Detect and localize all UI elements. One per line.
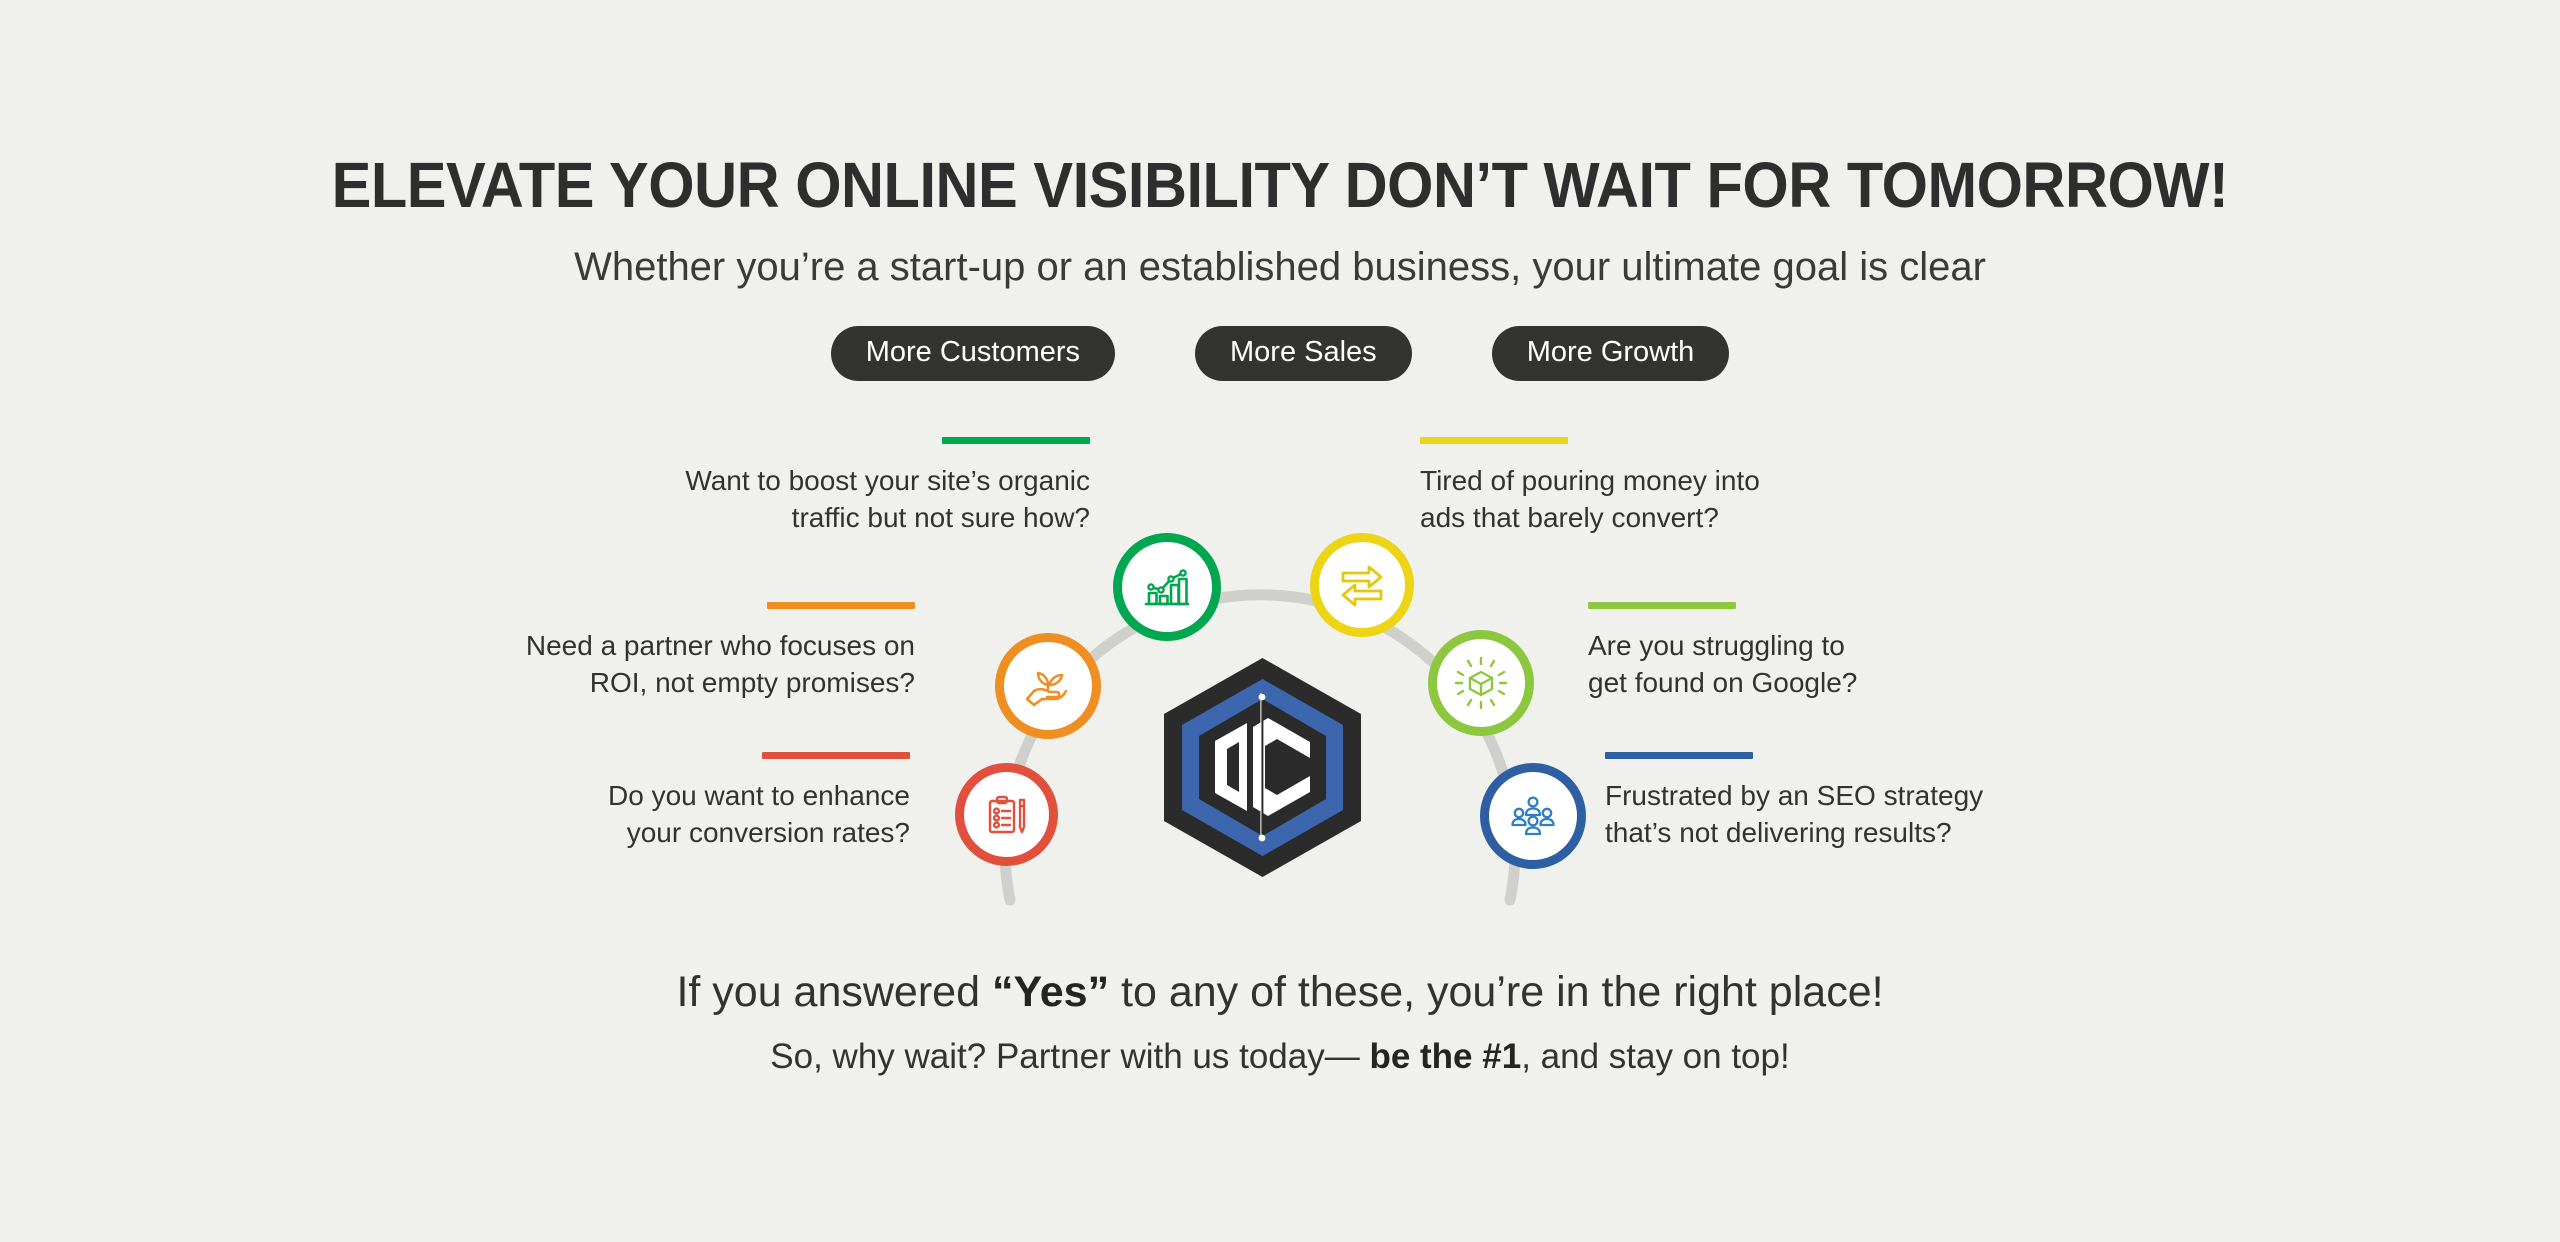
label-conversion-rates-line2: your conversion rates? [627,817,910,848]
footer-line-1: If you answered “Yes” to any of these, y… [0,968,2560,1017]
accent-bar-lime [1588,602,1736,609]
pill-more-sales[interactable]: More Sales [1195,326,1412,381]
bar-chart-growth-icon [1139,559,1195,615]
label-ad-spend-line1: Tired of pouring money into [1420,465,1760,496]
dc-hexagon-logo-mark [1155,655,1370,880]
clipboard-checklist-icon [981,789,1033,841]
footer-line-1-post: to any of these, you’re in the right pla… [1109,968,1883,1016]
label-organic-traffic-line1: Want to boost your site’s organic [685,465,1090,496]
label-google-visibility-line1: Are you struggling to [1588,630,1845,661]
dc-hexagon-logo [1155,655,1370,880]
footer-line-1-bold: “Yes” [992,968,1109,1016]
node-google-visibility[interactable] [1428,630,1534,736]
shining-cube-icon [1453,655,1509,711]
label-conversion-rates-line1: Do you want to enhance [608,780,910,811]
label-seo-strategy-line2: that’s not delivering results? [1605,817,1952,848]
goal-pill-row: More Customers More Sales More Growth [0,326,2560,381]
footer-line-2-post: , and stay on top! [1521,1037,1790,1076]
page-subtitle: Whether you’re a start-up or an establis… [0,245,2560,290]
label-google-visibility-line2: get found on Google? [1588,667,1857,698]
pill-more-growth[interactable]: More Growth [1492,326,1730,381]
people-group-icon [1506,789,1560,843]
footer-line-2-bold: be the #1 [1369,1037,1521,1076]
label-seo-strategy: Frustrated by an SEO strategy that’s not… [1605,752,2035,852]
label-seo-strategy-line1: Frustrated by an SEO strategy [1605,780,1983,811]
node-seo-strategy[interactable] [1480,763,1586,869]
node-conversion-rates[interactable] [955,763,1058,866]
accent-bar-blue [1605,752,1753,759]
label-google-visibility: Are you struggling to get found on Googl… [1588,602,1988,702]
footer-line-2-pre: So, why wait? Partner with us today— [770,1037,1369,1076]
label-roi-partner-line1: Need a partner who focuses on [526,630,915,661]
pill-more-customers[interactable]: More Customers [831,326,1115,381]
node-roi-partner[interactable] [995,633,1101,739]
hand-sprout-icon [1021,659,1075,713]
accent-bar-green [942,437,1090,444]
label-conversion-rates: Do you want to enhance your conversion r… [510,752,910,852]
infographic-canvas: ELEVATE YOUR ONLINE VISIBILITY DON’T WAI… [0,0,2560,1242]
label-organic-traffic-line2: traffic but not sure how? [792,502,1090,533]
label-roi-partner: Need a partner who focuses on ROI, not e… [470,602,915,702]
node-organic-traffic[interactable] [1113,533,1221,641]
label-ad-spend-line2: ads that barely convert? [1420,502,1719,533]
footer-line-2: So, why wait? Partner with us today— be … [0,1037,2560,1077]
accent-bar-red [762,752,910,759]
node-ad-spend[interactable] [1310,533,1414,637]
accent-bar-orange [767,602,915,609]
accent-bar-yellow [1420,437,1568,444]
label-ad-spend: Tired of pouring money into ads that bar… [1420,437,1850,537]
label-roi-partner-line2: ROI, not empty promises? [590,667,915,698]
page-title: ELEVATE YOUR ONLINE VISIBILITY DON’T WAI… [90,148,2471,222]
footer-line-1-pre: If you answered [676,968,992,1016]
label-organic-traffic: Want to boost your site’s organic traffi… [640,437,1090,537]
exchange-arrows-icon [1336,559,1388,611]
